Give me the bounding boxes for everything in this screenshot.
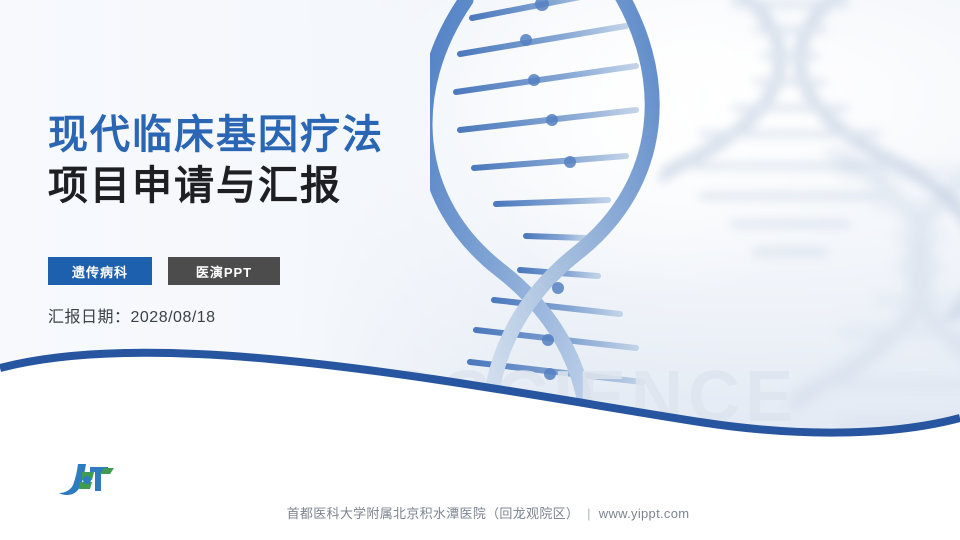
- page-title-line-2: 项目申请与汇报: [48, 161, 508, 212]
- jst-logo: [52, 458, 130, 498]
- report-date: 汇报日期：2028/08/18: [48, 303, 216, 327]
- badge-department: 遗传病科: [48, 257, 152, 285]
- footer-website: www.yippt.com: [599, 506, 690, 521]
- footer-organization: 首都医科大学附属北京积水潭医院（回龙观院区）: [287, 506, 580, 521]
- footer: 首都医科大学附属北京积水潭医院（回龙观院区） | www.yippt.com: [0, 503, 960, 522]
- page-title-line-1: 现代临床基因疗法: [48, 110, 508, 161]
- badge-brand: 医演PPT: [168, 257, 280, 285]
- title-slide: BIOSCIENCE 现代临床基因疗法 项目申请与汇报 遗传病科 医演PPT 汇…: [0, 0, 960, 540]
- title-block: 现代临床基因疗法 项目申请与汇报: [48, 110, 508, 212]
- footer-separator: |: [583, 506, 595, 521]
- badge-group: 遗传病科 医演PPT: [48, 257, 280, 285]
